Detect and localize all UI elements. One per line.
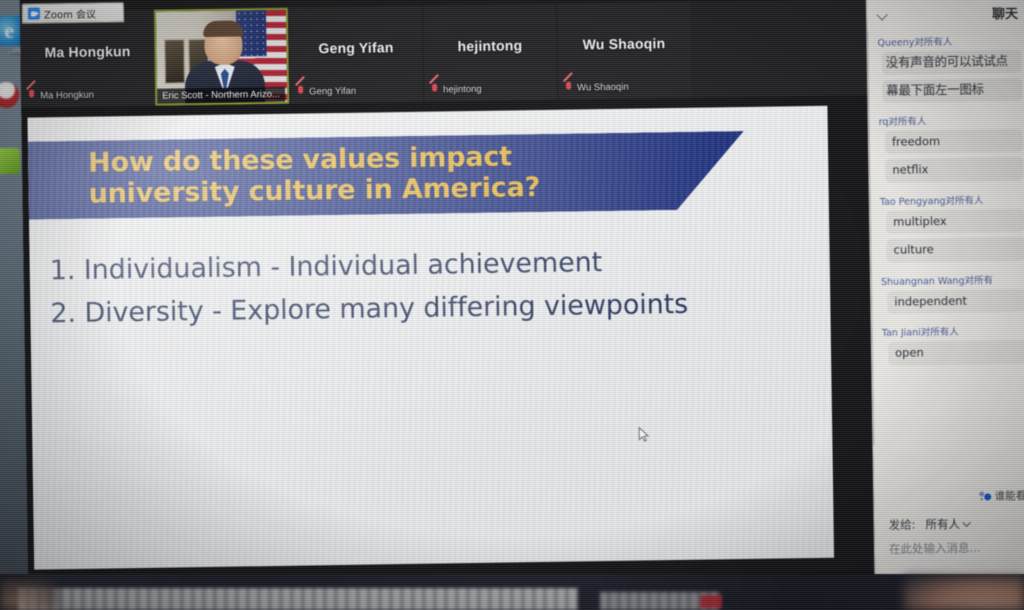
chat-message-bubble: culture <box>886 237 1024 263</box>
slide-bullet-list: 1. Individualism - Individual achievemen… <box>49 238 810 336</box>
chat-message-list[interactable]: Queeny对所有人 没有声音的可以试试点 幕最下面左一图标 rq对所有人 fr… <box>867 29 1024 445</box>
mic-off-icon <box>27 90 36 102</box>
chat-message-sender: Tan Jiani对所有人 <box>882 323 1024 339</box>
mic-off-icon <box>430 84 439 96</box>
chevron-down-icon <box>964 520 972 528</box>
app-icon-green[interactable] <box>0 148 20 174</box>
chat-composer: 谁能看 发给: 所有人 在此处输入消息... <box>874 488 1024 557</box>
chat-message-bubble: open <box>888 340 1024 366</box>
chat-message-bubble: netflix <box>885 157 1023 183</box>
chat-message-bubble: independent <box>887 289 1024 315</box>
participant-display-name: Wu Shaoqin <box>579 35 670 52</box>
participant-display-name: Geng Yifan <box>314 39 397 56</box>
chat-message-sender: Queeny对所有人 <box>877 33 1021 49</box>
chat-message-group: Shuangnan Wang对所有 independent <box>881 272 1024 315</box>
people-icon <box>979 490 992 502</box>
send-to-value: 所有人 <box>925 516 960 533</box>
app-icon-red[interactable] <box>0 82 19 108</box>
participant-display-name: Ma Hongkun <box>40 43 134 60</box>
laptop-screen: ..us Zoom 会议 Ma Hongkun Ma Hongkun <box>0 0 1024 590</box>
zoom-camera-icon <box>28 7 40 19</box>
chat-panel-title: 聊天 <box>992 3 1018 22</box>
participant-name-label: Eric Scott - Northern Arizo... <box>157 87 285 104</box>
participant-display-name: hejintong <box>453 37 526 54</box>
participant-footer: Ma Hongkun <box>27 89 94 102</box>
chat-message-bubble: freedom <box>885 129 1023 155</box>
chat-panel-header[interactable]: 聊天 <box>867 0 1024 31</box>
send-to-row: 发给: 所有人 <box>883 515 1024 533</box>
mic-off-icon <box>296 86 305 98</box>
hand-blurred-left <box>0 580 58 610</box>
participant-name-label: Ma Hongkun <box>40 89 94 101</box>
chat-message-group: Tao Pengyang对所有人 multiplex culture <box>880 192 1024 263</box>
participant-tile-ma-hongkun[interactable]: Ma Hongkun Ma Hongkun <box>20 10 155 108</box>
participant-tile-geng-yifan[interactable]: Geng Yifan Geng Yifan <box>288 6 423 104</box>
mouse-pointer-icon <box>638 426 649 442</box>
window-titlebar[interactable]: Zoom 会议 <box>22 2 124 24</box>
zoom-meeting-window: Zoom 会议 Ma Hongkun Ma Hongkun <box>20 0 1024 584</box>
who-can-see-link[interactable]: 谁能看 <box>882 488 1024 505</box>
participant-footer: hejintong <box>430 83 482 96</box>
participant-name-label: Geng Yifan <box>309 85 356 97</box>
participant-footer: Wu Shaoqin <box>564 81 629 94</box>
participant-tile-hejintong[interactable]: hejintong hejintong <box>422 4 557 102</box>
meeting-body: Ma Hongkun Ma Hongkun <box>20 0 1024 584</box>
chat-message-group: Queeny对所有人 没有声音的可以试试点 幕最下面左一图标 <box>877 33 1022 103</box>
chat-message-sender: rq对所有人 <box>879 112 1023 128</box>
participant-footer: Geng Yifan <box>296 85 356 98</box>
slide-title-banner: How do these values impact university cu… <box>28 131 745 220</box>
slide-title: How do these values impact university cu… <box>28 142 540 211</box>
chat-message-bubble: 没有声音的可以试试点 <box>882 50 1022 75</box>
chat-message-group: rq对所有人 freedom netflix <box>879 112 1024 183</box>
mic-off-icon <box>564 82 573 94</box>
who-can-see-label: 谁能看 <box>995 488 1024 503</box>
chat-message-group: Tan Jiani对所有人 open <box>882 323 1024 366</box>
presentation-slide: How do these values impact university cu… <box>27 106 834 570</box>
keyboard-blurred <box>18 588 578 610</box>
hand-blurred-right <box>904 576 1024 610</box>
chevron-down-icon[interactable] <box>877 9 889 21</box>
chat-message-bubble: 幕最下面左一图标 <box>882 78 1022 103</box>
keyboard-red-key <box>700 595 722 608</box>
chat-message-bubble: multiplex <box>886 209 1024 235</box>
send-to-label: 发给: <box>889 517 916 533</box>
participant-name-label: Wu Shaoqin <box>577 81 629 93</box>
chat-panel: 聊天 Queeny对所有人 没有声音的可以试试点 幕最下面左一图标 rq对所有人… <box>866 0 1024 585</box>
photographed-screen: ..us Zoom 会议 Ma Hongkun Ma Hongkun <box>0 0 1024 610</box>
chat-message-sender: Tao Pengyang对所有人 <box>880 192 1024 208</box>
participant-tile-wu-shaoqin[interactable]: Wu Shaoqin Wu Shaoqin <box>556 2 691 100</box>
chat-message-sender: Shuangnan Wang对所有 <box>881 272 1024 288</box>
slide-title-line-2: university culture in America? <box>88 172 540 210</box>
chat-input[interactable]: 在此处输入消息... <box>883 539 1024 557</box>
window-title: Zoom 会议 <box>44 5 96 21</box>
participant-tile-eric-scott[interactable]: Eric Scott - Northern Arizo... <box>154 8 289 106</box>
participant-name-label: hejintong <box>443 83 482 95</box>
send-to-dropdown[interactable]: 所有人 <box>925 516 972 533</box>
